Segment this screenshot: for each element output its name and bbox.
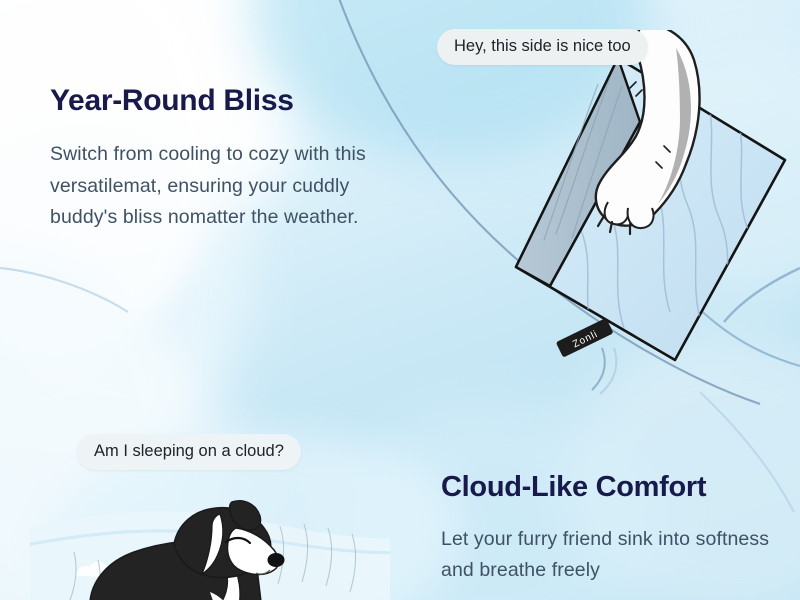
pet-cooling-mat-illustration: Zonli — [480, 30, 800, 400]
sleeping-dog-illustration — [30, 480, 390, 600]
section-title: Year-Round Bliss — [50, 84, 400, 117]
speech-bubble-top-right: Hey, this side is nice too — [437, 29, 648, 65]
section-title: Cloud-Like Comfort — [441, 472, 791, 504]
section-body: Let your furry friend sink into softness… — [441, 524, 791, 587]
section-cloud-like-comfort: Cloud-Like Comfort Let your furry friend… — [441, 472, 791, 587]
product-feature-page: Zonli — [0, 0, 800, 600]
tag-ribbon — [592, 348, 605, 390]
tag-ribbon — [600, 348, 616, 394]
speech-bubble-mid-left: Am I sleeping on a cloud? — [77, 434, 301, 470]
nose — [268, 553, 285, 567]
section-body: Switch from cooling to cozy with this ve… — [50, 139, 400, 234]
brand-tag: Zonli — [556, 318, 614, 358]
section-year-round-bliss: Year-Round Bliss Switch from cooling to … — [50, 84, 400, 234]
